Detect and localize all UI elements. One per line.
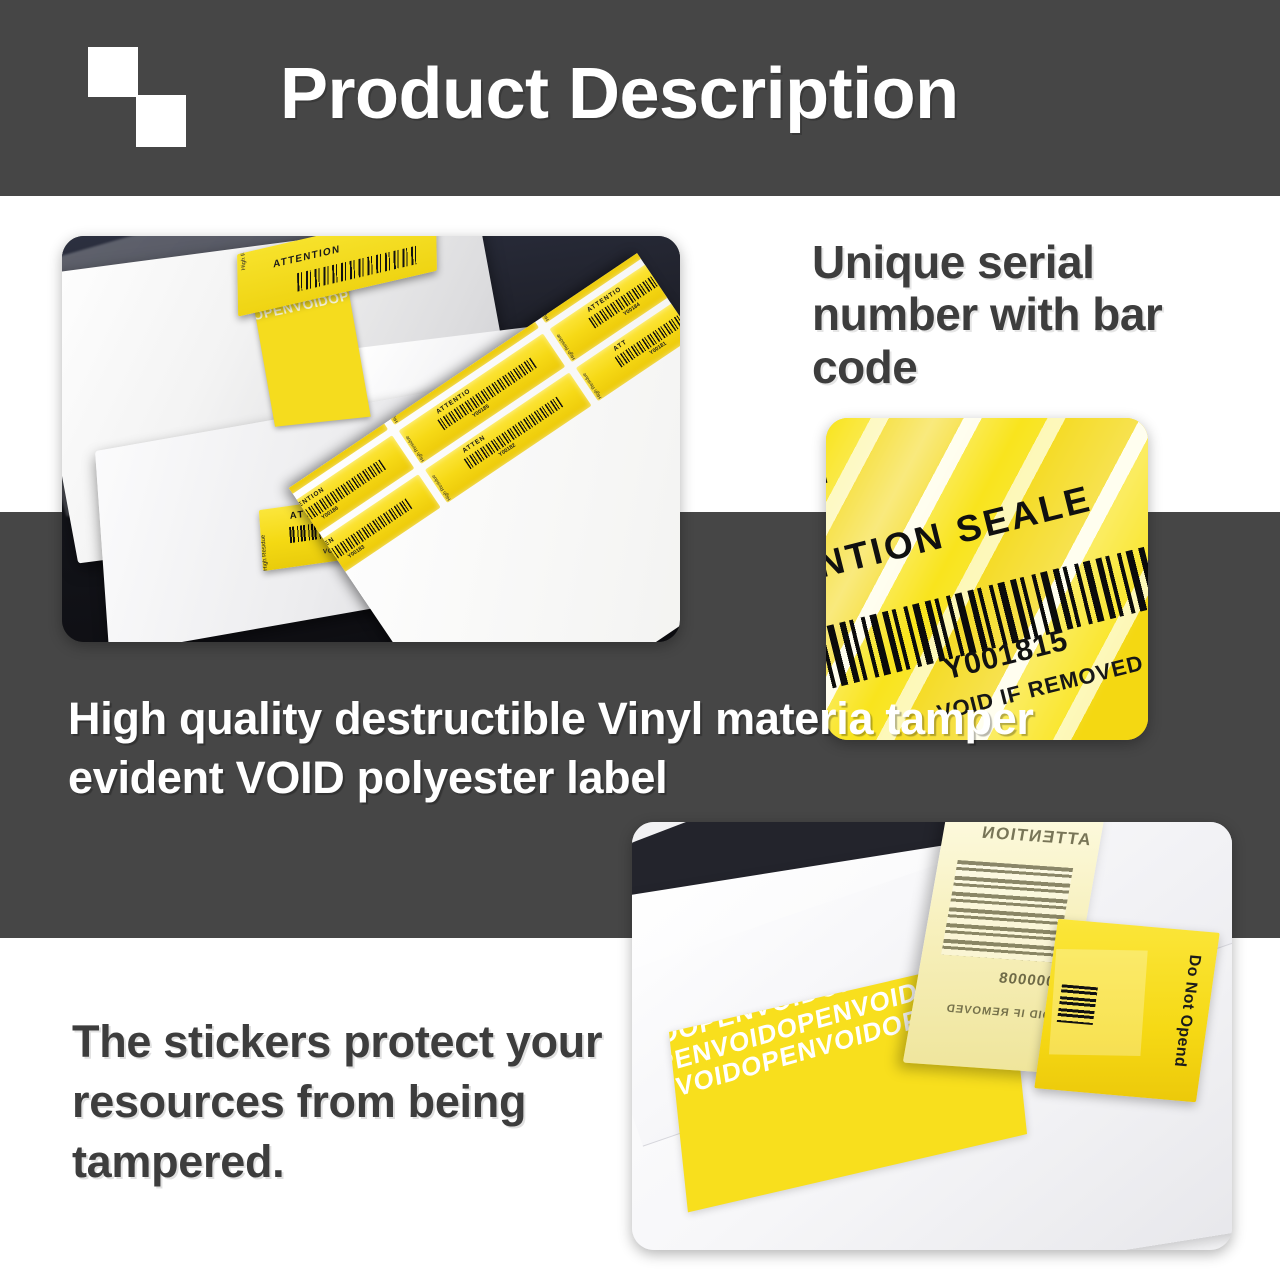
- photo1-sheet-label-side-text: High Residue: [431, 473, 453, 501]
- photo3-do-not-open-text: Do Not Opend: [1170, 954, 1204, 1068]
- photo1-flat-label-side-text: High Residue: [260, 534, 268, 571]
- brand-logo-icon: [88, 47, 180, 147]
- photo3-do-not-open-barcode-icon: [1057, 984, 1098, 1024]
- photo2-void-top-text: VOID I: [826, 467, 831, 502]
- logo-square-top-left: [88, 47, 138, 97]
- photo1-sheet-label-side-text: High Residue: [556, 332, 578, 360]
- photo3-do-not-open-label: Do Not Opend: [1034, 918, 1219, 1102]
- logo-square-bottom-right: [136, 95, 186, 147]
- feature-text-serial-barcode: Unique serial number with bar code: [812, 236, 1192, 393]
- photo3-peeled-label-title: ATTENTION: [951, 822, 1092, 850]
- product-description-infographic: Product Description VOIDOPENVOIDOPENVOID…: [0, 0, 1280, 1280]
- photo3-peeled-label-footer: VOID IF REMOVED: [921, 1001, 1061, 1022]
- photo3-peeled-label-serial: Y000008: [927, 964, 1068, 990]
- page-title: Product Description: [280, 57, 959, 133]
- photo-envelope-with-labels: VOIDOPENVOIDOPENVOIDOPENVOIDOPENVOIDOPEN…: [62, 236, 680, 642]
- photo1-sheet-label-side-text: High Residue: [582, 371, 604, 399]
- photo-peeled-void-residue: VOIDOPENVOIDOPENVOIDOPENVOIDOPENVOIDOPEN…: [632, 822, 1232, 1250]
- photo1-sheet-label-side-text: High Residue: [405, 434, 427, 462]
- feature-text-protect-resources: The stickers protect your resources from…: [72, 1012, 632, 1192]
- feature-text-destructible-vinyl: High quality destructible Vinyl materia …: [68, 690, 1058, 807]
